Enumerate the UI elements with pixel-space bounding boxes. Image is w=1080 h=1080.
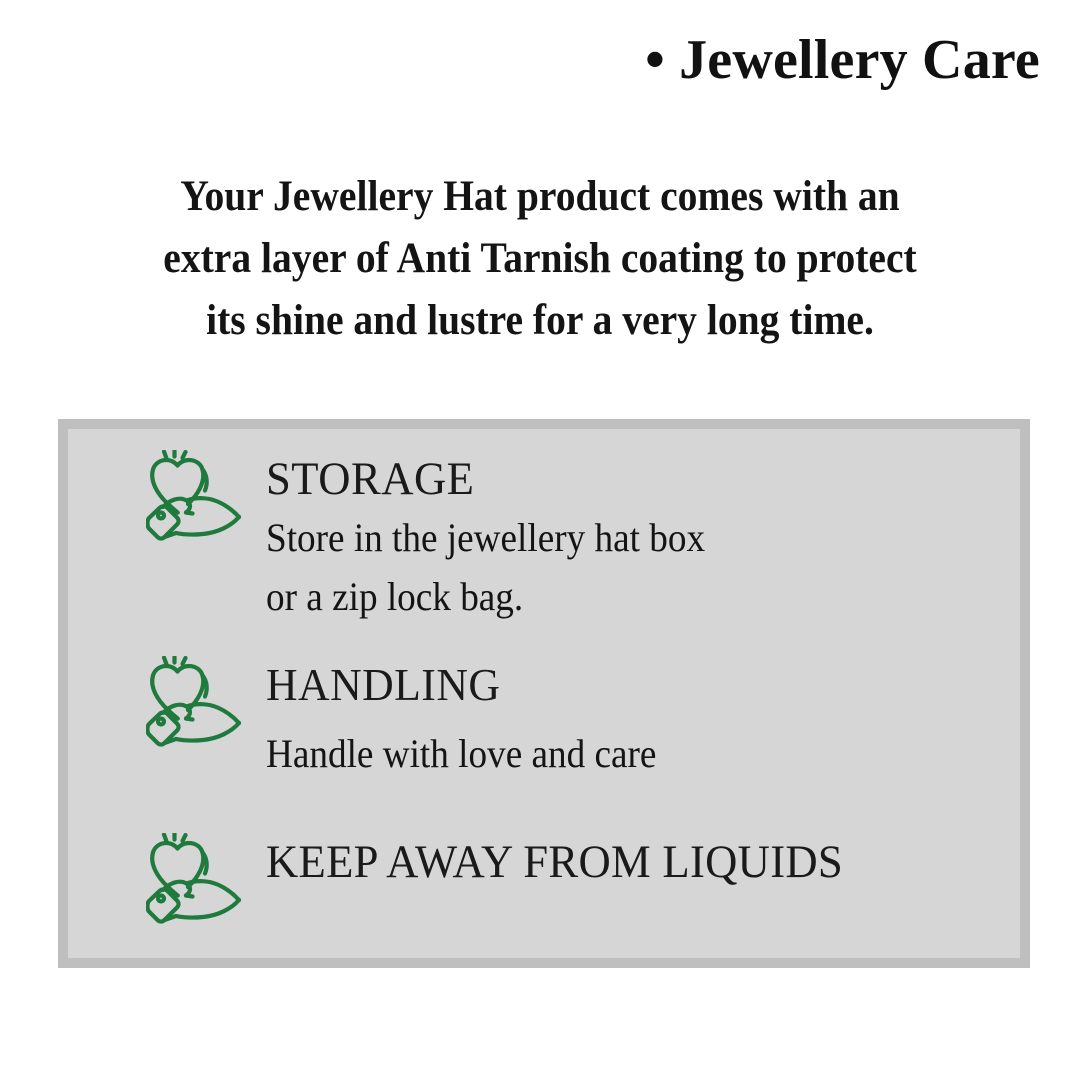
- care-heading: HANDLING: [266, 658, 665, 712]
- jewellery-care-panel: STORAGE Store in the jewellery hat box o…: [58, 419, 1030, 968]
- intro-line-3: its shine and lustre for a very long tim…: [108, 290, 973, 352]
- page-title-row: • Jewellery Care: [645, 30, 1040, 92]
- care-item-text: STORAGE Store in the jewellery hat box o…: [266, 450, 738, 626]
- care-description: Handle with love and care: [266, 724, 686, 783]
- care-description-line: Store in the jewellery hat box: [266, 508, 705, 567]
- care-description-line: or a zip lock bag.: [266, 567, 705, 626]
- care-item-text: HANDLING Handle with love and care: [266, 656, 686, 783]
- care-heading: KEEP AWAY FROM LIQUIDS: [266, 835, 843, 889]
- intro-paragraph: Your Jewellery Hat product comes with an…: [70, 166, 1010, 352]
- care-item-handling: HANDLING Handle with love and care: [146, 656, 686, 783]
- heart-in-hand-icon: [146, 450, 244, 542]
- care-description: Store in the jewellery hat box or a zip …: [266, 508, 738, 626]
- care-item-text: KEEP AWAY FROM LIQUIDS: [266, 833, 873, 889]
- care-instruction-list: STORAGE Store in the jewellery hat box o…: [68, 429, 1020, 958]
- care-description-line: Handle with love and care: [266, 724, 656, 783]
- care-item-keep-away-from-liquids: KEEP AWAY FROM LIQUIDS: [146, 833, 873, 925]
- heart-in-hand-icon: [146, 833, 244, 925]
- intro-line-2: extra layer of Anti Tarnish coating to p…: [108, 228, 973, 290]
- intro-line-1: Your Jewellery Hat product comes with an: [108, 166, 973, 228]
- care-heading: STORAGE: [266, 452, 714, 506]
- page-title: • Jewellery Care: [645, 30, 1040, 92]
- heart-in-hand-icon: [146, 656, 244, 748]
- care-item-storage: STORAGE Store in the jewellery hat box o…: [146, 450, 738, 626]
